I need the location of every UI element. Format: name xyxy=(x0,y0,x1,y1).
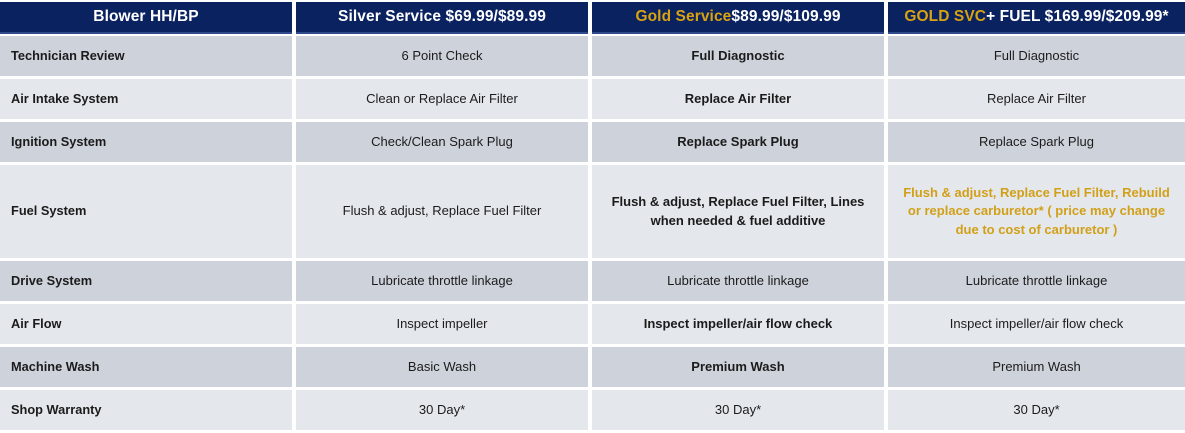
row-gold-value: Flush & adjust, Replace Fuel Filter, Lin… xyxy=(592,165,884,258)
row-feature-label: Ignition System xyxy=(0,122,292,162)
column-header-silver-service-label: Silver Service $69.99/$89.99 xyxy=(338,8,546,26)
row-gold-value: Full Diagnostic xyxy=(592,36,884,76)
row-silver-value: Check/Clean Spark Plug xyxy=(296,122,588,162)
table-row: Drive SystemLubricate throttle linkageLu… xyxy=(0,261,1185,301)
row-gold-fuel-value: Lubricate throttle linkage xyxy=(888,261,1185,301)
column-header-silver-service: Silver Service $69.99/$89.99 xyxy=(296,2,588,34)
row-silver-value: 6 Point Check xyxy=(296,36,588,76)
column-header-gold-svc-fuel-name: GOLD SVC xyxy=(904,8,986,26)
row-gold-value: 30 Day* xyxy=(592,390,884,430)
row-silver-value: Clean or Replace Air Filter xyxy=(296,79,588,119)
row-gold-value: Lubricate throttle linkage xyxy=(592,261,884,301)
row-feature-label: Machine Wash xyxy=(0,347,292,387)
column-header-feature: Blower HH/BP xyxy=(0,2,292,34)
column-header-gold-service-price: $89.99/$109.99 xyxy=(731,8,840,26)
table-header-row: Blower HH/BP Silver Service $69.99/$89.9… xyxy=(0,0,1185,36)
row-gold-value: Inspect impeller/air flow check xyxy=(592,304,884,344)
row-silver-value: Basic Wash xyxy=(296,347,588,387)
row-gold-fuel-value: Full Diagnostic xyxy=(888,36,1185,76)
row-feature-label: Drive System xyxy=(0,261,292,301)
row-gold-fuel-value: Replace Air Filter xyxy=(888,79,1185,119)
row-gold-value: Replace Spark Plug xyxy=(592,122,884,162)
row-gold-fuel-value: 30 Day* xyxy=(888,390,1185,430)
column-header-gold-svc-fuel: GOLD SVC + FUEL $169.99/$209.99* xyxy=(888,2,1185,34)
table-body: Technician Review6 Point CheckFull Diagn… xyxy=(0,36,1185,433)
row-gold-fuel-value: Flush & adjust, Replace Fuel Filter, Reb… xyxy=(888,165,1185,258)
table-row: Shop Warranty30 Day*30 Day*30 Day* xyxy=(0,390,1185,430)
service-comparison-table: Blower HH/BP Silver Service $69.99/$89.9… xyxy=(0,0,1185,432)
table-row: Machine WashBasic WashPremium WashPremiu… xyxy=(0,347,1185,387)
row-gold-value: Premium Wash xyxy=(592,347,884,387)
table-row: Ignition SystemCheck/Clean Spark PlugRep… xyxy=(0,122,1185,162)
table-row: Air Intake SystemClean or Replace Air Fi… xyxy=(0,79,1185,119)
row-gold-fuel-value: Premium Wash xyxy=(888,347,1185,387)
row-silver-value: Flush & adjust, Replace Fuel Filter xyxy=(296,165,588,258)
row-gold-fuel-value: Inspect impeller/air flow check xyxy=(888,304,1185,344)
table-row: Fuel SystemFlush & adjust, Replace Fuel … xyxy=(0,165,1185,258)
row-feature-label: Shop Warranty xyxy=(0,390,292,430)
row-gold-fuel-value: Replace Spark Plug xyxy=(888,122,1185,162)
column-header-gold-svc-fuel-price: + FUEL $169.99/$209.99* xyxy=(986,8,1169,26)
row-feature-label: Technician Review xyxy=(0,36,292,76)
row-feature-label: Air Intake System xyxy=(0,79,292,119)
column-header-gold-service: Gold Service $89.99/$109.99 xyxy=(592,2,884,34)
row-silver-value: Inspect impeller xyxy=(296,304,588,344)
row-silver-value: Lubricate throttle linkage xyxy=(296,261,588,301)
row-feature-label: Air Flow xyxy=(0,304,292,344)
column-header-gold-service-name: Gold Service xyxy=(635,8,731,26)
row-silver-value: 30 Day* xyxy=(296,390,588,430)
column-header-feature-label: Blower HH/BP xyxy=(93,8,198,26)
table-row: Technician Review6 Point CheckFull Diagn… xyxy=(0,36,1185,76)
row-feature-label: Fuel System xyxy=(0,165,292,258)
table-row: Air FlowInspect impellerInspect impeller… xyxy=(0,304,1185,344)
row-gold-value: Replace Air Filter xyxy=(592,79,884,119)
